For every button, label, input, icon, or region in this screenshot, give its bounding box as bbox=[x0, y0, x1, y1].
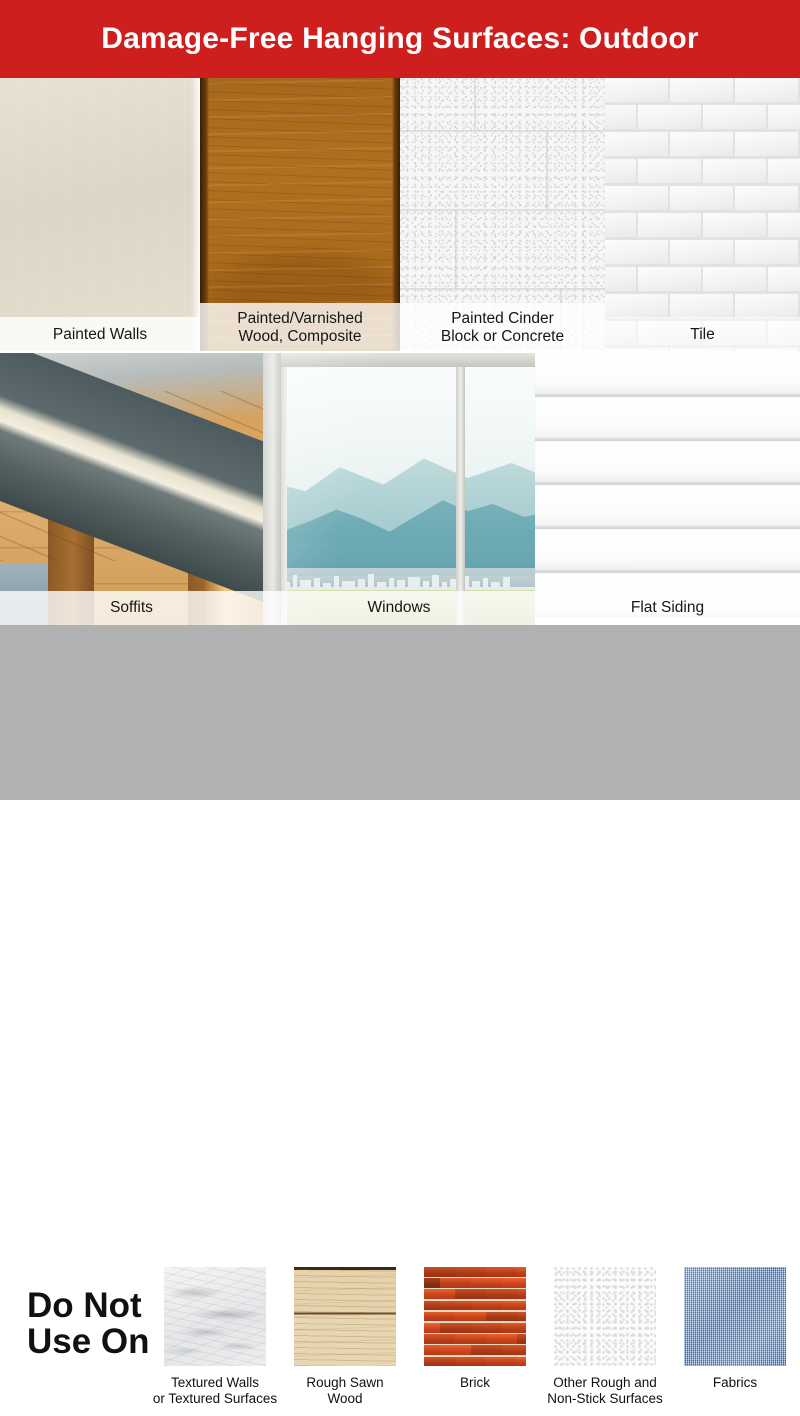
surface-label-soffits: Soffits bbox=[0, 591, 263, 625]
surface-label-painted-cinder-block: Painted Cinder Block or Concrete bbox=[400, 303, 605, 353]
infographic-page: Damage-Free Hanging Surfaces: Outdoor Pa… bbox=[0, 0, 800, 800]
tile-row bbox=[605, 240, 800, 267]
do-not-use-caption-rough-nonstick: Other Rough and Non-Stick Surfaces bbox=[547, 1375, 663, 1407]
tile bbox=[703, 159, 766, 184]
surface-panel-soffits[interactable]: Soffits bbox=[0, 353, 263, 625]
brick-texture bbox=[424, 1267, 526, 1366]
brick bbox=[424, 1267, 455, 1277]
tile-row bbox=[605, 105, 800, 132]
rough-nonstick-texture bbox=[554, 1267, 656, 1366]
brick bbox=[471, 1345, 502, 1355]
surfaces-row-2: Soffits Windows Flat Siding bbox=[0, 353, 800, 625]
brick bbox=[486, 1357, 517, 1367]
brick bbox=[502, 1301, 528, 1311]
surfaces-row-1: Painted Walls Painted/Varnished Wood, Co… bbox=[0, 78, 800, 353]
tile bbox=[605, 294, 668, 319]
do-not-use-on-items: Textured Walls or Textured Surfaces Roug… bbox=[150, 1266, 800, 1416]
brick bbox=[486, 1267, 517, 1277]
tile bbox=[605, 213, 636, 238]
tile bbox=[703, 267, 766, 292]
brick bbox=[423, 1345, 440, 1355]
brick bbox=[440, 1301, 471, 1311]
brick-row bbox=[423, 1345, 527, 1356]
tile bbox=[605, 186, 668, 211]
brick bbox=[517, 1312, 527, 1322]
surface-label-painted-walls: Painted Walls bbox=[0, 317, 200, 353]
brick bbox=[455, 1357, 486, 1367]
tile bbox=[703, 105, 766, 130]
brick bbox=[502, 1278, 528, 1288]
do-not-use-caption-rough-sawn-wood: Rough Sawn Wood bbox=[306, 1375, 383, 1407]
brick bbox=[486, 1312, 517, 1322]
mortar-line-v bbox=[455, 209, 458, 288]
brick bbox=[455, 1267, 486, 1277]
tile bbox=[768, 213, 800, 238]
tile bbox=[605, 240, 668, 265]
textured-wall-texture bbox=[164, 1267, 266, 1366]
window-glass-reflection bbox=[263, 353, 535, 625]
surface-panel-flat-siding[interactable]: Flat Siding bbox=[535, 353, 800, 625]
brick bbox=[455, 1334, 486, 1344]
brick-row bbox=[423, 1289, 527, 1300]
subway-tile-texture bbox=[605, 78, 800, 353]
do-not-use-caption-brick: Brick bbox=[460, 1375, 490, 1391]
brick bbox=[440, 1345, 471, 1355]
textured-wall-thumbnail bbox=[163, 1266, 267, 1367]
window-photo bbox=[263, 353, 535, 625]
stipple-bumps bbox=[554, 1267, 656, 1366]
rough-sawn-wood-thumbnail bbox=[293, 1266, 397, 1367]
brick bbox=[424, 1289, 455, 1299]
surface-label-windows: Windows bbox=[263, 591, 535, 625]
tile bbox=[768, 105, 800, 130]
do-not-use-item-fabrics[interactable]: Fabrics bbox=[670, 1266, 800, 1391]
surface-panel-tile[interactable]: Tile bbox=[605, 78, 800, 353]
tile bbox=[670, 294, 733, 319]
tile bbox=[703, 213, 766, 238]
tile bbox=[605, 105, 636, 130]
brick bbox=[423, 1323, 440, 1333]
surface-panel-painted-varnished-wood[interactable]: Painted/Varnished Wood, Composite bbox=[200, 78, 400, 353]
surface-label-painted-varnished-wood: Painted/Varnished Wood, Composite bbox=[200, 303, 400, 353]
brick-row bbox=[423, 1334, 527, 1345]
brick bbox=[471, 1301, 502, 1311]
tile bbox=[638, 267, 701, 292]
tile bbox=[735, 78, 798, 103]
brick bbox=[424, 1312, 455, 1322]
brick bbox=[440, 1323, 471, 1333]
siding-grain bbox=[535, 353, 800, 625]
tile-row bbox=[605, 78, 800, 105]
brick bbox=[517, 1267, 527, 1277]
mortar-line-h bbox=[400, 288, 605, 291]
tile bbox=[735, 240, 798, 265]
flat-siding-texture bbox=[535, 353, 800, 625]
brick bbox=[455, 1289, 486, 1299]
do-not-use-item-brick[interactable]: Brick bbox=[410, 1266, 540, 1391]
tile bbox=[638, 159, 701, 184]
tile-row bbox=[605, 159, 800, 186]
tile bbox=[735, 132, 798, 157]
brick-row bbox=[423, 1301, 527, 1312]
tile bbox=[670, 132, 733, 157]
brick-row bbox=[423, 1323, 527, 1334]
surface-panel-windows[interactable]: Windows bbox=[263, 353, 535, 625]
brick bbox=[455, 1312, 486, 1322]
brick bbox=[486, 1334, 517, 1344]
fabric-thumbnail bbox=[683, 1266, 787, 1367]
tile-row bbox=[605, 213, 800, 240]
tile bbox=[735, 294, 798, 319]
brick-row bbox=[423, 1357, 527, 1367]
brick bbox=[424, 1357, 455, 1367]
brick bbox=[502, 1323, 528, 1333]
brick-row bbox=[423, 1312, 527, 1323]
tile bbox=[670, 240, 733, 265]
tile bbox=[735, 186, 798, 211]
tile bbox=[605, 267, 636, 292]
do-not-use-item-rough-nonstick[interactable]: Other Rough and Non-Stick Surfaces bbox=[540, 1266, 670, 1407]
tile bbox=[638, 213, 701, 238]
tile bbox=[605, 159, 636, 184]
page-title: Damage-Free Hanging Surfaces: Outdoor bbox=[101, 22, 699, 56]
brick-row bbox=[423, 1278, 527, 1289]
tile-row bbox=[605, 132, 800, 159]
brick bbox=[517, 1357, 527, 1367]
do-not-use-item-rough-sawn-wood[interactable]: Rough Sawn Wood bbox=[280, 1266, 410, 1407]
tile bbox=[605, 78, 668, 103]
tile bbox=[768, 159, 800, 184]
mortar-line-h bbox=[400, 209, 605, 212]
do-not-use-caption-fabrics: Fabrics bbox=[713, 1375, 757, 1391]
mortar-line-h bbox=[400, 130, 605, 133]
brick bbox=[471, 1323, 502, 1333]
surface-panel-painted-cinder-block[interactable]: Painted Cinder Block or Concrete bbox=[400, 78, 605, 353]
tile bbox=[638, 105, 701, 130]
mortar-line-v bbox=[546, 130, 549, 209]
tile bbox=[768, 267, 800, 292]
brick bbox=[423, 1278, 440, 1288]
surface-label-tile: Tile bbox=[605, 317, 800, 353]
brick bbox=[423, 1301, 440, 1311]
title-bar: Damage-Free Hanging Surfaces: Outdoor bbox=[0, 0, 800, 78]
fabric-texture bbox=[684, 1267, 786, 1366]
do-not-use-caption-textured-walls: Textured Walls or Textured Surfaces bbox=[153, 1375, 277, 1407]
tile-row bbox=[605, 186, 800, 213]
surface-panel-painted-walls[interactable]: Painted Walls bbox=[0, 78, 200, 353]
brick bbox=[486, 1289, 517, 1299]
brick-thumbnail bbox=[423, 1266, 527, 1367]
tile bbox=[670, 186, 733, 211]
rough-sawn-wood-texture bbox=[294, 1267, 396, 1366]
tile bbox=[605, 132, 668, 157]
mortar-line-v bbox=[474, 78, 477, 130]
brick bbox=[517, 1334, 527, 1344]
brick bbox=[440, 1278, 471, 1288]
surface-label-flat-siding: Flat Siding bbox=[535, 591, 800, 625]
rough-nonstick-thumbnail bbox=[553, 1266, 657, 1367]
brick bbox=[517, 1289, 527, 1299]
brick-row bbox=[423, 1267, 527, 1278]
tile-row bbox=[605, 267, 800, 294]
brick bbox=[424, 1334, 455, 1344]
soffit-photo bbox=[0, 353, 263, 625]
brick bbox=[471, 1278, 502, 1288]
tile bbox=[670, 78, 733, 103]
brick bbox=[502, 1345, 528, 1355]
painted-wall-texture bbox=[0, 78, 200, 353]
do-not-use-on-section: Do Not Use On Textured Walls or Textured… bbox=[0, 625, 800, 800]
do-not-use-item-textured-walls[interactable]: Textured Walls or Textured Surfaces bbox=[150, 1266, 280, 1407]
